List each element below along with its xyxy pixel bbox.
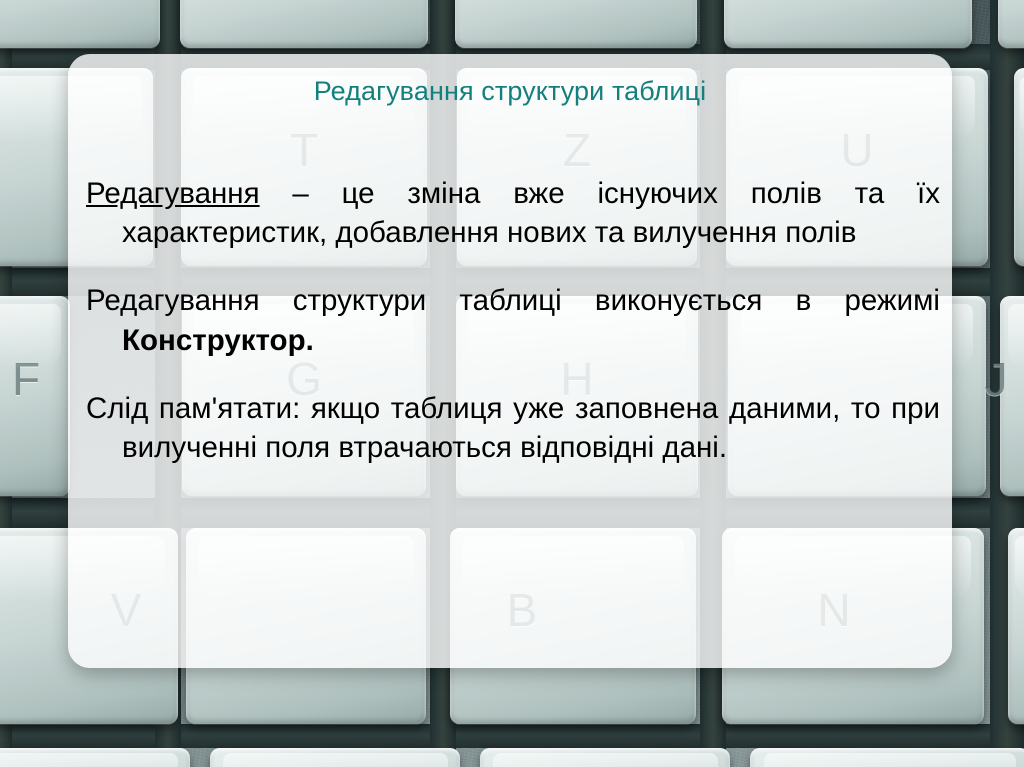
term-constructor: Конструктор. bbox=[122, 324, 314, 357]
paragraph-design-mode: Редагування структури таблиці виконуєтьс… bbox=[86, 281, 940, 359]
keyboard-key bbox=[480, 748, 730, 767]
keyboard-key bbox=[724, 0, 972, 48]
key-glyph-f: F bbox=[0, 352, 56, 406]
keyboard-key bbox=[180, 0, 428, 48]
keyboard-key bbox=[455, 0, 697, 48]
keyboard-key-j-right: J bbox=[1000, 296, 1024, 496]
keyboard-key bbox=[210, 748, 460, 767]
paragraph-definition: Редагування – це зміна вже існуючих полі… bbox=[86, 174, 940, 252]
keyboard-key bbox=[0, 748, 190, 767]
paragraph-warning: Слід пам'ятати: якщо таблиця уже заповне… bbox=[86, 389, 940, 467]
warning-text: Слід пам'ятати: якщо таблиця уже заповне… bbox=[86, 392, 940, 464]
keyboard-key bbox=[998, 0, 1024, 48]
keyboard-key-f: F bbox=[0, 296, 70, 496]
keyboard-key bbox=[1014, 68, 1024, 266]
keyboard-key bbox=[0, 0, 160, 48]
keyboard-key bbox=[750, 748, 1024, 767]
term-editing: Редагування bbox=[86, 177, 260, 210]
slide-body: Редагування – це зміна вже існуючих полі… bbox=[86, 174, 940, 467]
keyboard-row-gap bbox=[0, 724, 1024, 748]
slide: T Z U F G H J V B N bbox=[0, 0, 1024, 767]
content-card: Редагування структури таблиці Редагуванн… bbox=[68, 54, 952, 668]
keyboard-key bbox=[1008, 528, 1024, 724]
slide-title: Редагування структури таблиці bbox=[68, 76, 952, 107]
design-mode-text: Редагування структури таблиці виконуєтьс… bbox=[86, 284, 940, 317]
key-glyph-j: J bbox=[966, 352, 1024, 406]
